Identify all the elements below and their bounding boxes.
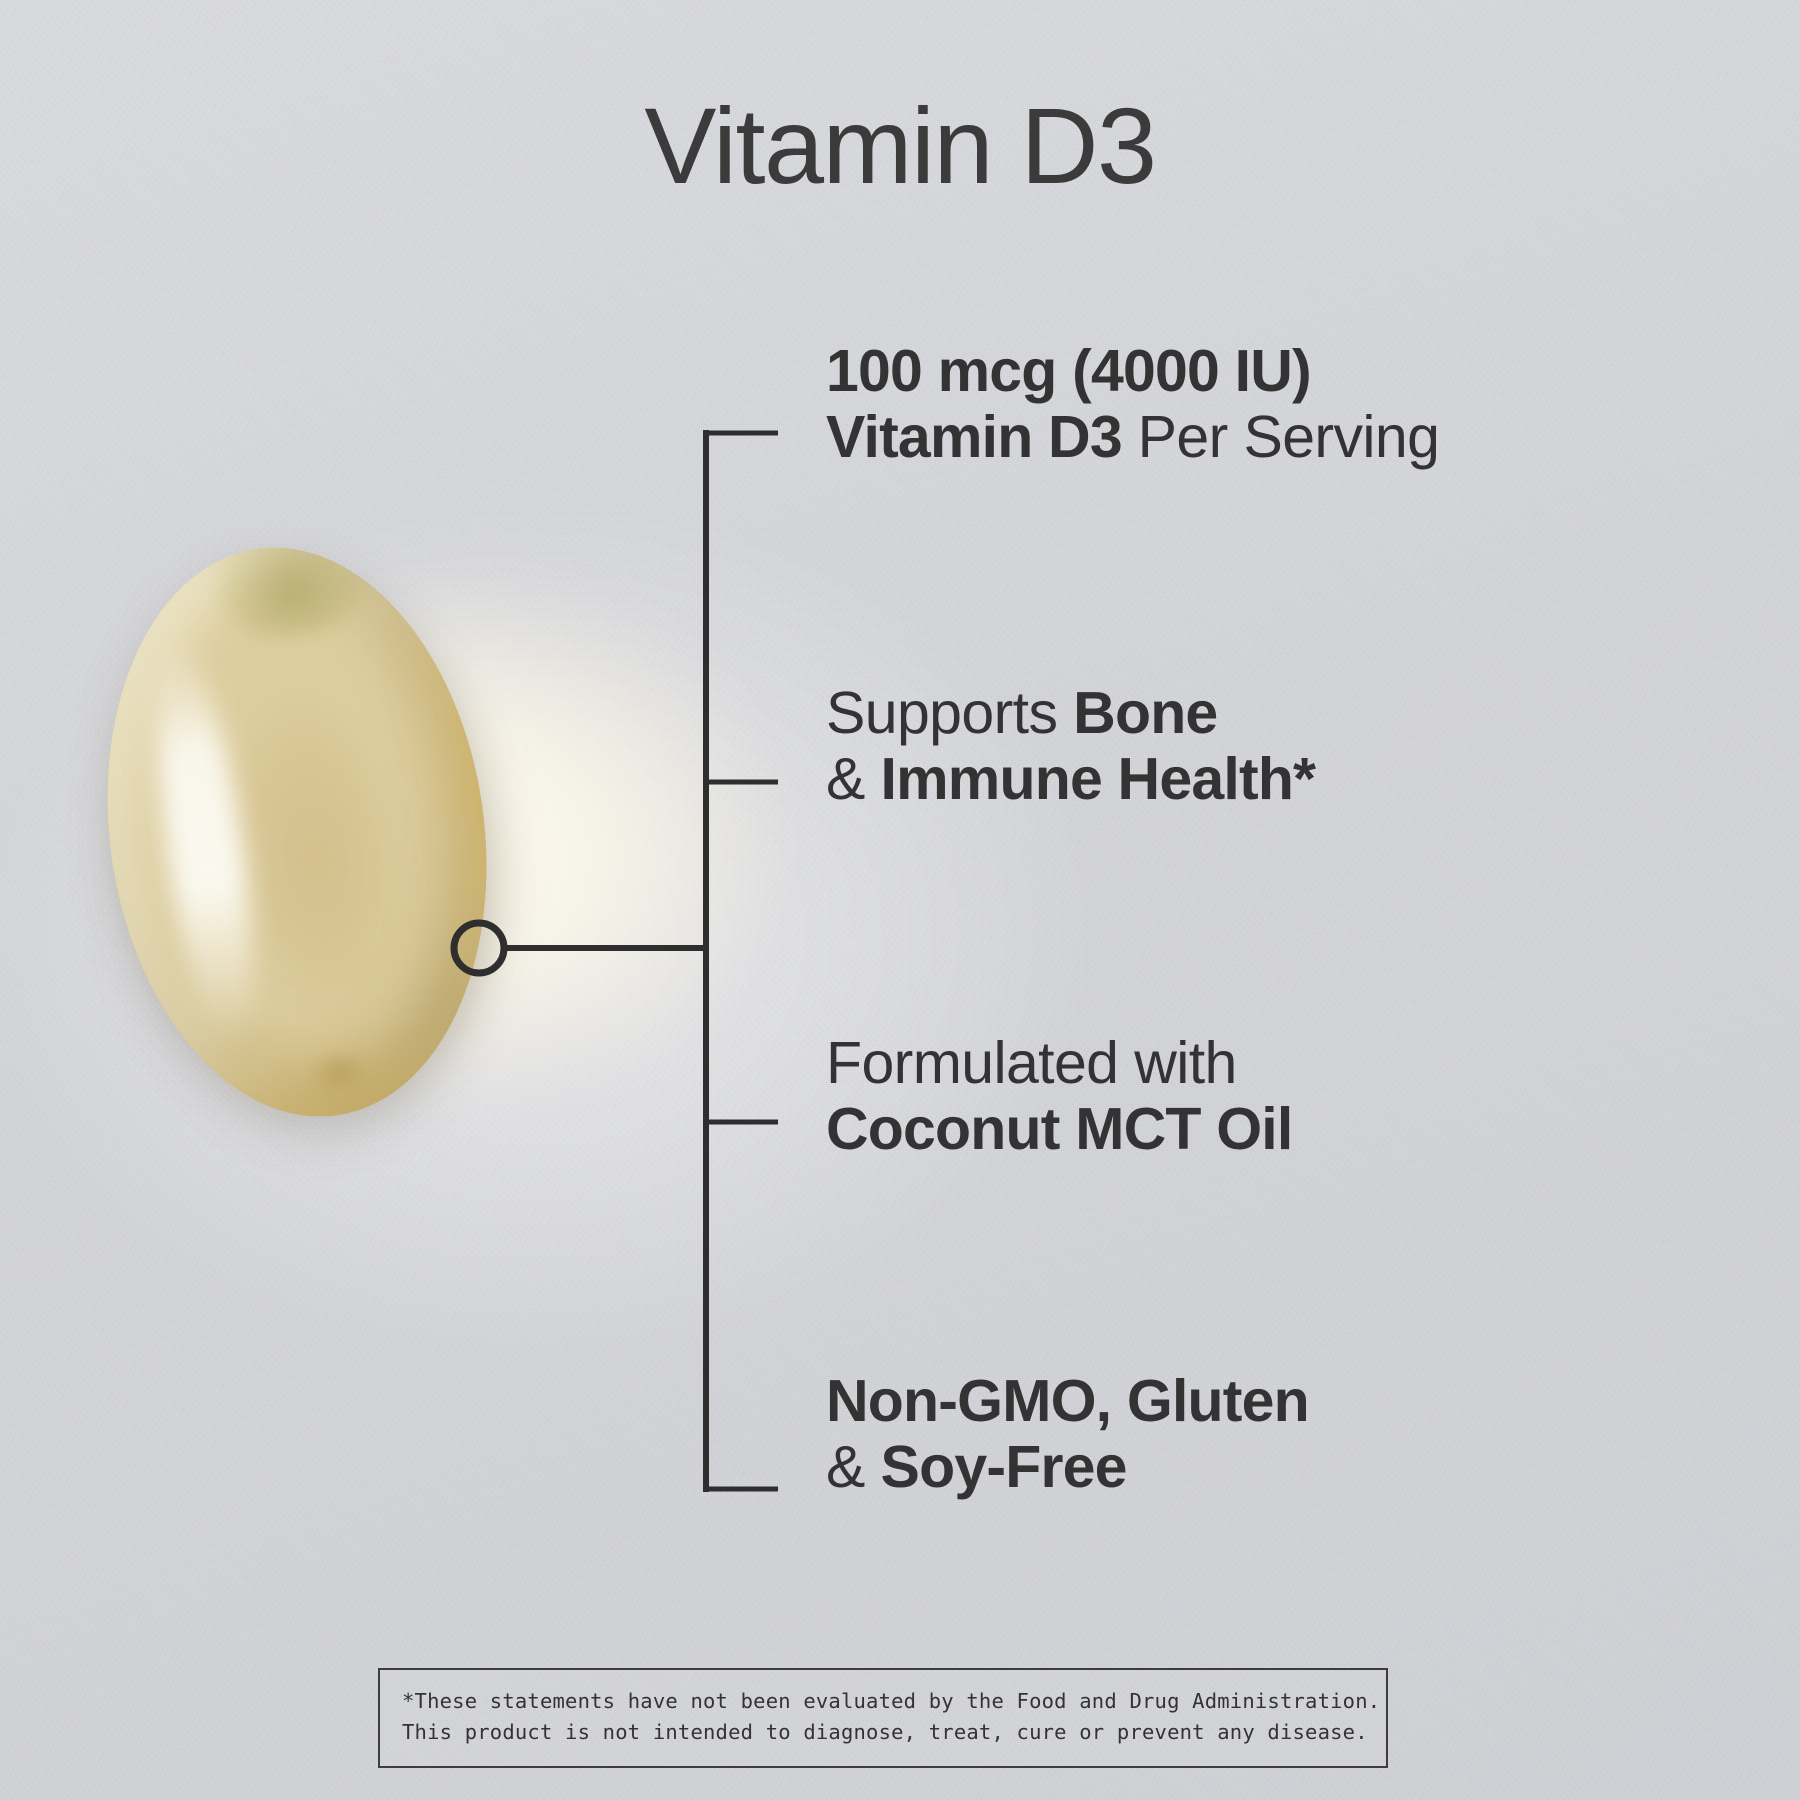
feature-benefits: Supports Bone & Immune Health* xyxy=(826,680,1315,812)
feature-benefits-line-2: & Immune Health* xyxy=(826,746,1315,812)
feature-dosage: 100 mcg (4000 IU) Vitamin D3 Per Serving xyxy=(826,338,1439,470)
feature-dosage-line-1: 100 mcg (4000 IU) xyxy=(826,338,1439,404)
feature-formulation-line-2: Coconut MCT Oil xyxy=(826,1096,1292,1162)
fda-disclaimer-line-1: *These statements have not been evaluate… xyxy=(402,1686,1364,1717)
feature-free-from-line-2: & Soy-Free xyxy=(826,1434,1309,1500)
feature-free-from-soy: Soy-Free xyxy=(881,1434,1127,1500)
feature-free-from: Non-GMO, Gluten & Soy-Free xyxy=(826,1368,1309,1500)
feature-formulation-ingredient: Coconut MCT Oil xyxy=(826,1096,1292,1162)
feature-formulation-line-1: Formulated with xyxy=(826,1030,1292,1096)
infographic-canvas: Vitamin D3 100 mcg ( xyxy=(0,0,1800,1800)
fda-disclaimer-line-2: This product is not intended to diagnose… xyxy=(402,1717,1364,1748)
feature-benefits-line-1: Supports Bone xyxy=(826,680,1315,746)
feature-free-from-line-1: Non-GMO, Gluten xyxy=(826,1368,1309,1434)
feature-formulation-prefix: Formulated with xyxy=(826,1030,1237,1096)
feature-free-from-claims: Non-GMO, Gluten xyxy=(826,1368,1309,1434)
feature-benefits-ampersand: & xyxy=(826,746,881,812)
feature-dosage-amount: 100 mcg (4000 IU) xyxy=(826,338,1311,404)
feature-benefits-supports: Supports xyxy=(826,680,1073,746)
feature-benefits-immune: Immune Health* xyxy=(881,746,1316,812)
product-image xyxy=(96,520,516,1140)
capsule-top-tint xyxy=(202,523,381,647)
feature-dosage-serving: Per Serving xyxy=(1122,404,1439,470)
fda-disclaimer-box: *These statements have not been evaluate… xyxy=(378,1668,1388,1768)
feature-dosage-nutrient: Vitamin D3 xyxy=(826,404,1122,470)
feature-benefits-bone: Bone xyxy=(1073,680,1217,746)
feature-free-from-ampersand: & xyxy=(826,1434,881,1500)
feature-dosage-line-2: Vitamin D3 Per Serving xyxy=(826,404,1439,470)
feature-formulation: Formulated with Coconut MCT Oil xyxy=(826,1030,1292,1162)
page-title: Vitamin D3 xyxy=(0,92,1800,200)
